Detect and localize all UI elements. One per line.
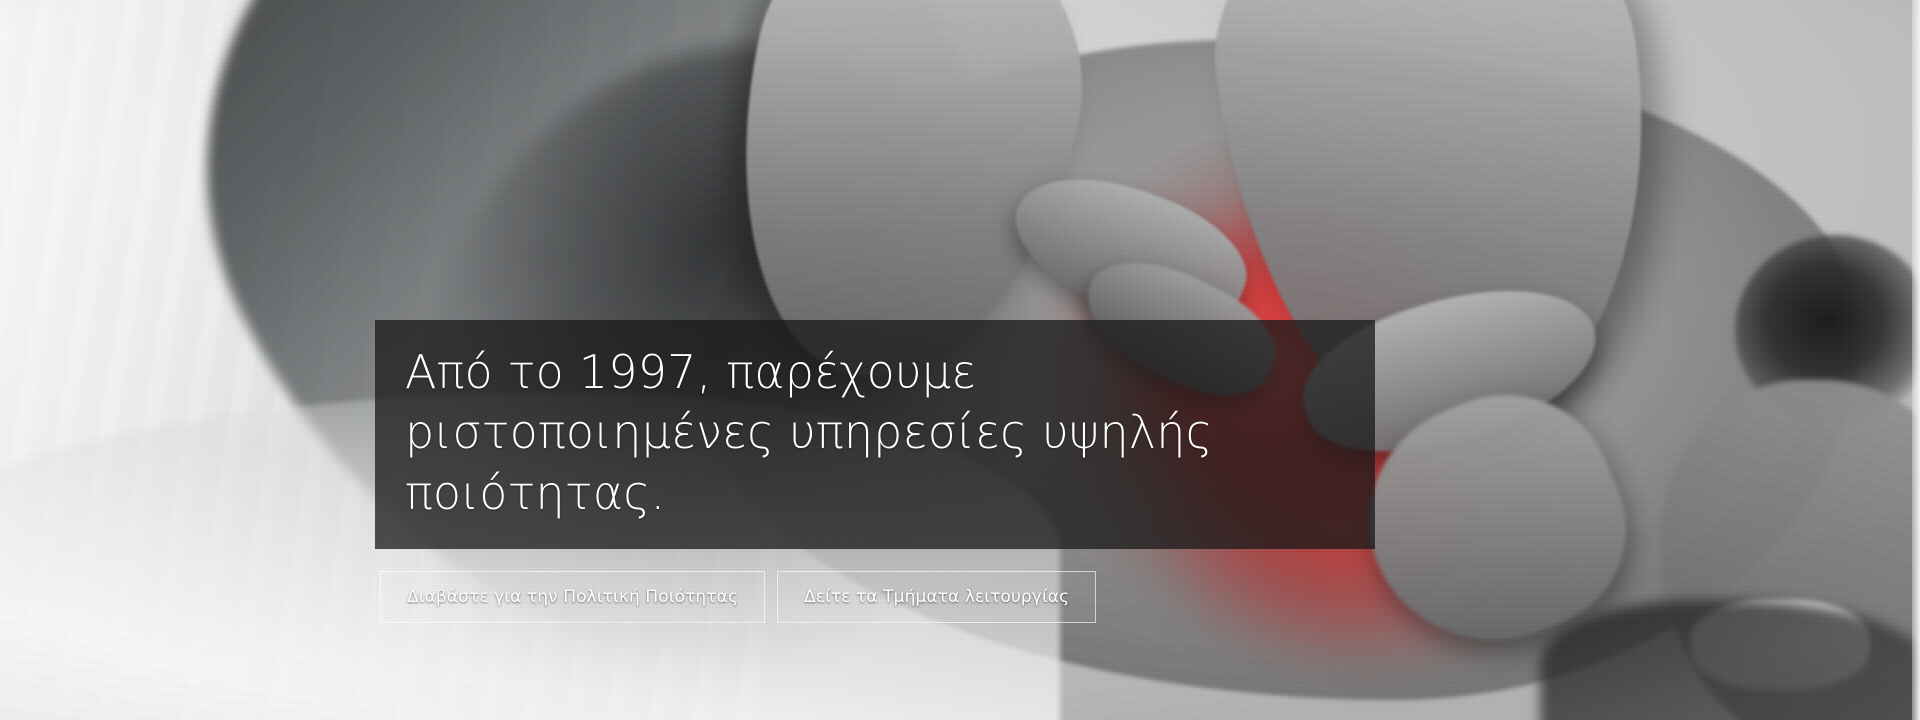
photo-right-edge (1912, 0, 1920, 720)
headline-overlay-box: Από το 1997, παρέχουμε pιστοποιημένες υπ… (375, 320, 1375, 549)
shadow-bottom-right (1540, 600, 1920, 720)
quality-policy-button[interactable]: Διαβάστε για την Πολιτική Ποιότητας (380, 571, 765, 623)
hero-content: Από το 1997, παρέχουμε pιστοποιημένες υπ… (375, 320, 1375, 623)
departments-button[interactable]: Δείτε τα Τμήματα λειτουργίας (777, 571, 1096, 623)
page-title: Από το 1997, παρέχουμε pιστοποιημένες υπ… (405, 342, 1345, 523)
cta-button-row: Διαβάστε για την Πολιτική Ποιότητας Δείτ… (375, 571, 1375, 623)
hero-banner: Από το 1997, παρέχουμε pιστοποιημένες υπ… (0, 0, 1920, 720)
